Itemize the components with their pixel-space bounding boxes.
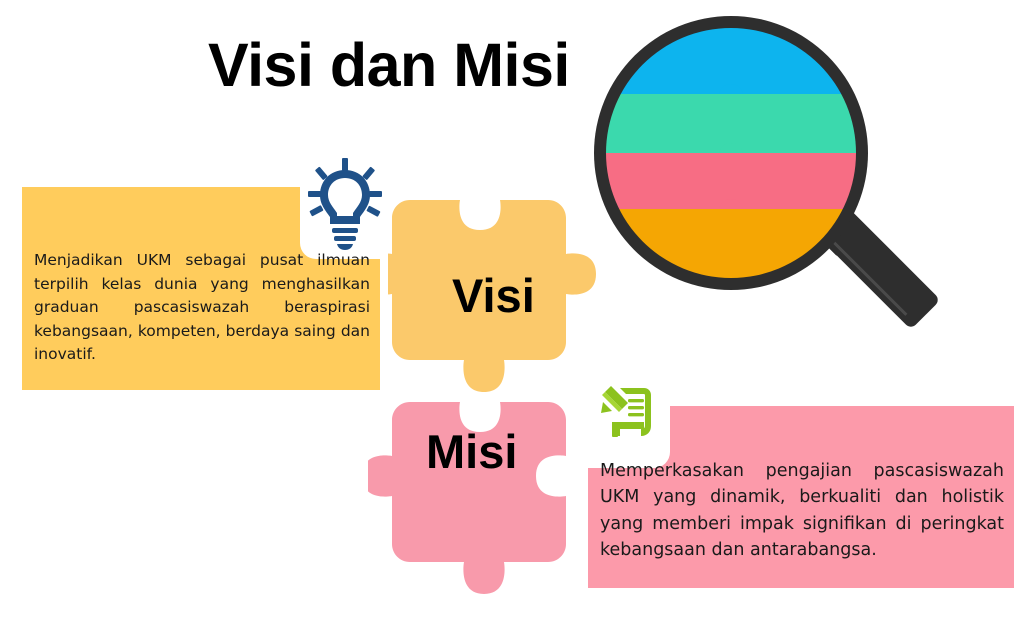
magnifying-glass-icon [586,8,926,338]
visi-body-text: Menjadikan UKM sebagai pusat ilmuan terp… [34,249,370,367]
lightbulb-icon [308,158,382,250]
infographic-canvas: Visi dan Misi Menjadikan UKM sebagai pus… [0,0,1024,627]
misi-puzzle-piece [368,378,604,594]
magnifier-lens [606,28,856,278]
visi-piece-label: Visi [452,268,535,323]
lens-band-orange [606,209,856,278]
misi-piece-label: Misi [426,424,517,479]
document-pencil-icon [598,382,662,446]
misi-body-text: Memperkasakan pengajian pascasiswazah UK… [600,458,1004,563]
page-title: Visi dan Misi [208,33,628,97]
